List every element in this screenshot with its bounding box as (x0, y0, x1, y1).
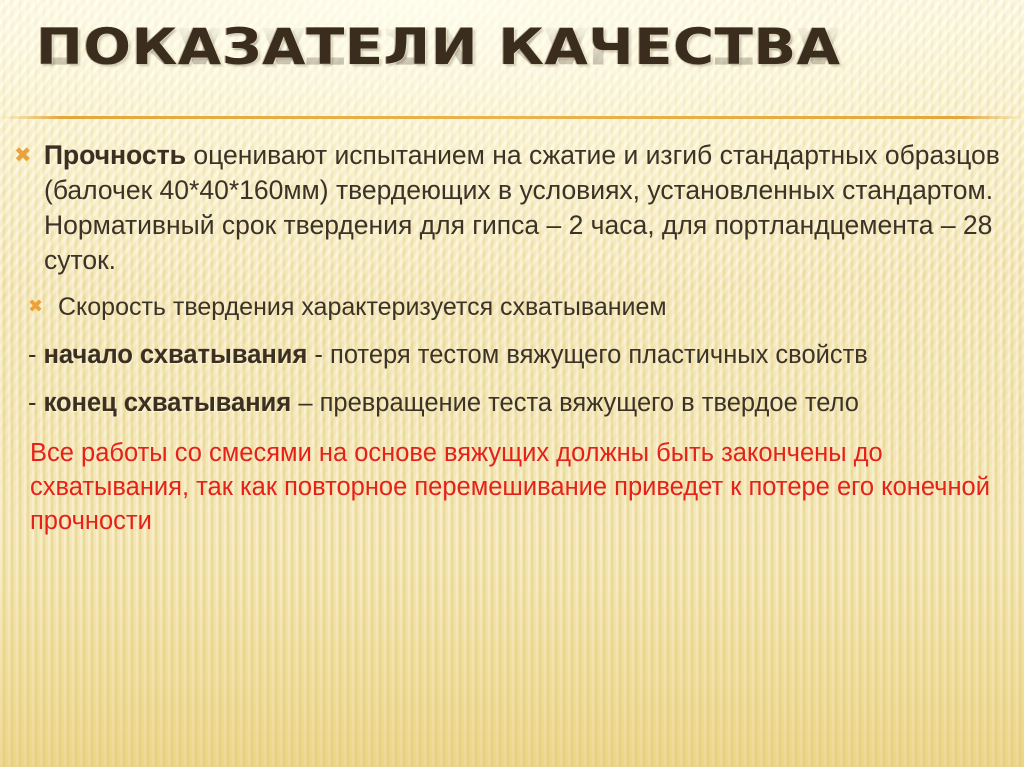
bullet-text: Скорость твердения характеризуется схват… (58, 290, 1000, 324)
sub-item-keyword: начало схватывания (44, 341, 308, 369)
warning-note-text: Все работы со смесями на основе вяжущих … (30, 436, 996, 538)
sub-item-dash: - (28, 341, 44, 369)
bullet-body: Скорость твердения характеризуется схват… (58, 293, 667, 321)
bullet-body: оценивают испытанием на сжатие и изгиб с… (44, 140, 1000, 275)
sub-item: - начало схватывания - потеря тестом вяж… (0, 338, 1024, 372)
bullet-item: ✖ Скорость твердения характеризуется схв… (0, 290, 1024, 324)
sub-item: - конец схватывания – превращение теста … (0, 386, 1024, 420)
warning-note: Все работы со смесями на основе вяжущих … (0, 436, 1024, 538)
background-bottom-shade (0, 537, 1024, 767)
bullet-item: ✖ Прочность оценивают испытанием на сжат… (0, 138, 1024, 278)
bullet-keyword: Прочность (44, 140, 186, 170)
sub-item-body: – превращение теста вяжущего в твердое т… (291, 389, 859, 417)
body-area: ✖ Прочность оценивают испытанием на сжат… (0, 138, 1024, 538)
slide-title: Показатели качества (36, 18, 841, 76)
bullet-cross-icon: ✖ (28, 290, 58, 324)
sub-item-keyword: конец схватывания (44, 389, 292, 417)
bullet-cross-icon: ✖ (14, 138, 44, 173)
title-block: Показатели качества Показатели качества (0, 18, 1024, 116)
slide: Показатели качества Показатели качества … (0, 0, 1024, 767)
sub-item-dash: - (28, 389, 44, 417)
bullet-text: Прочность оценивают испытанием на сжатие… (44, 138, 1000, 278)
sub-item-body: - потеря тестом вяжущего пластичных свой… (307, 341, 868, 369)
title-divider (0, 116, 1024, 119)
